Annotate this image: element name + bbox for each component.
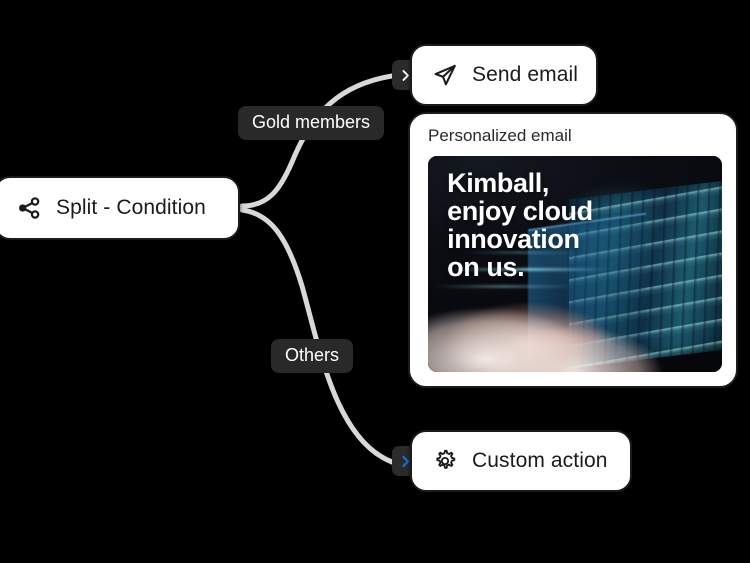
workflow-canvas[interactable]: Split - Condition Send email xyxy=(0,0,750,563)
node-label: Split - Condition xyxy=(56,196,206,220)
email-preview-title: Personalized email xyxy=(428,127,722,146)
node-send-email[interactable]: Send email xyxy=(410,44,598,106)
node-label: Send email xyxy=(472,63,578,87)
gear-icon xyxy=(432,448,458,474)
node-label: Custom action xyxy=(472,449,608,473)
email-preview-card[interactable]: Personalized email Kimball, enjoy cloud … xyxy=(408,112,738,388)
email-preview-headline: Kimball, enjoy cloud innovation on us. xyxy=(447,169,593,281)
artwork-cloud xyxy=(428,290,675,372)
paper-plane-icon xyxy=(432,62,458,88)
branch-label-others[interactable]: Others xyxy=(271,339,353,373)
share-icon xyxy=(16,195,42,221)
artwork-light-streak xyxy=(434,285,575,288)
branch-label-text: Gold members xyxy=(252,112,370,132)
email-preview-image: Kimball, enjoy cloud innovation on us. xyxy=(428,156,722,372)
node-custom-action[interactable]: Custom action xyxy=(410,430,632,492)
branch-label-gold-members[interactable]: Gold members xyxy=(238,106,384,140)
branch-label-text: Others xyxy=(285,345,339,365)
node-split-condition[interactable]: Split - Condition xyxy=(0,176,240,240)
